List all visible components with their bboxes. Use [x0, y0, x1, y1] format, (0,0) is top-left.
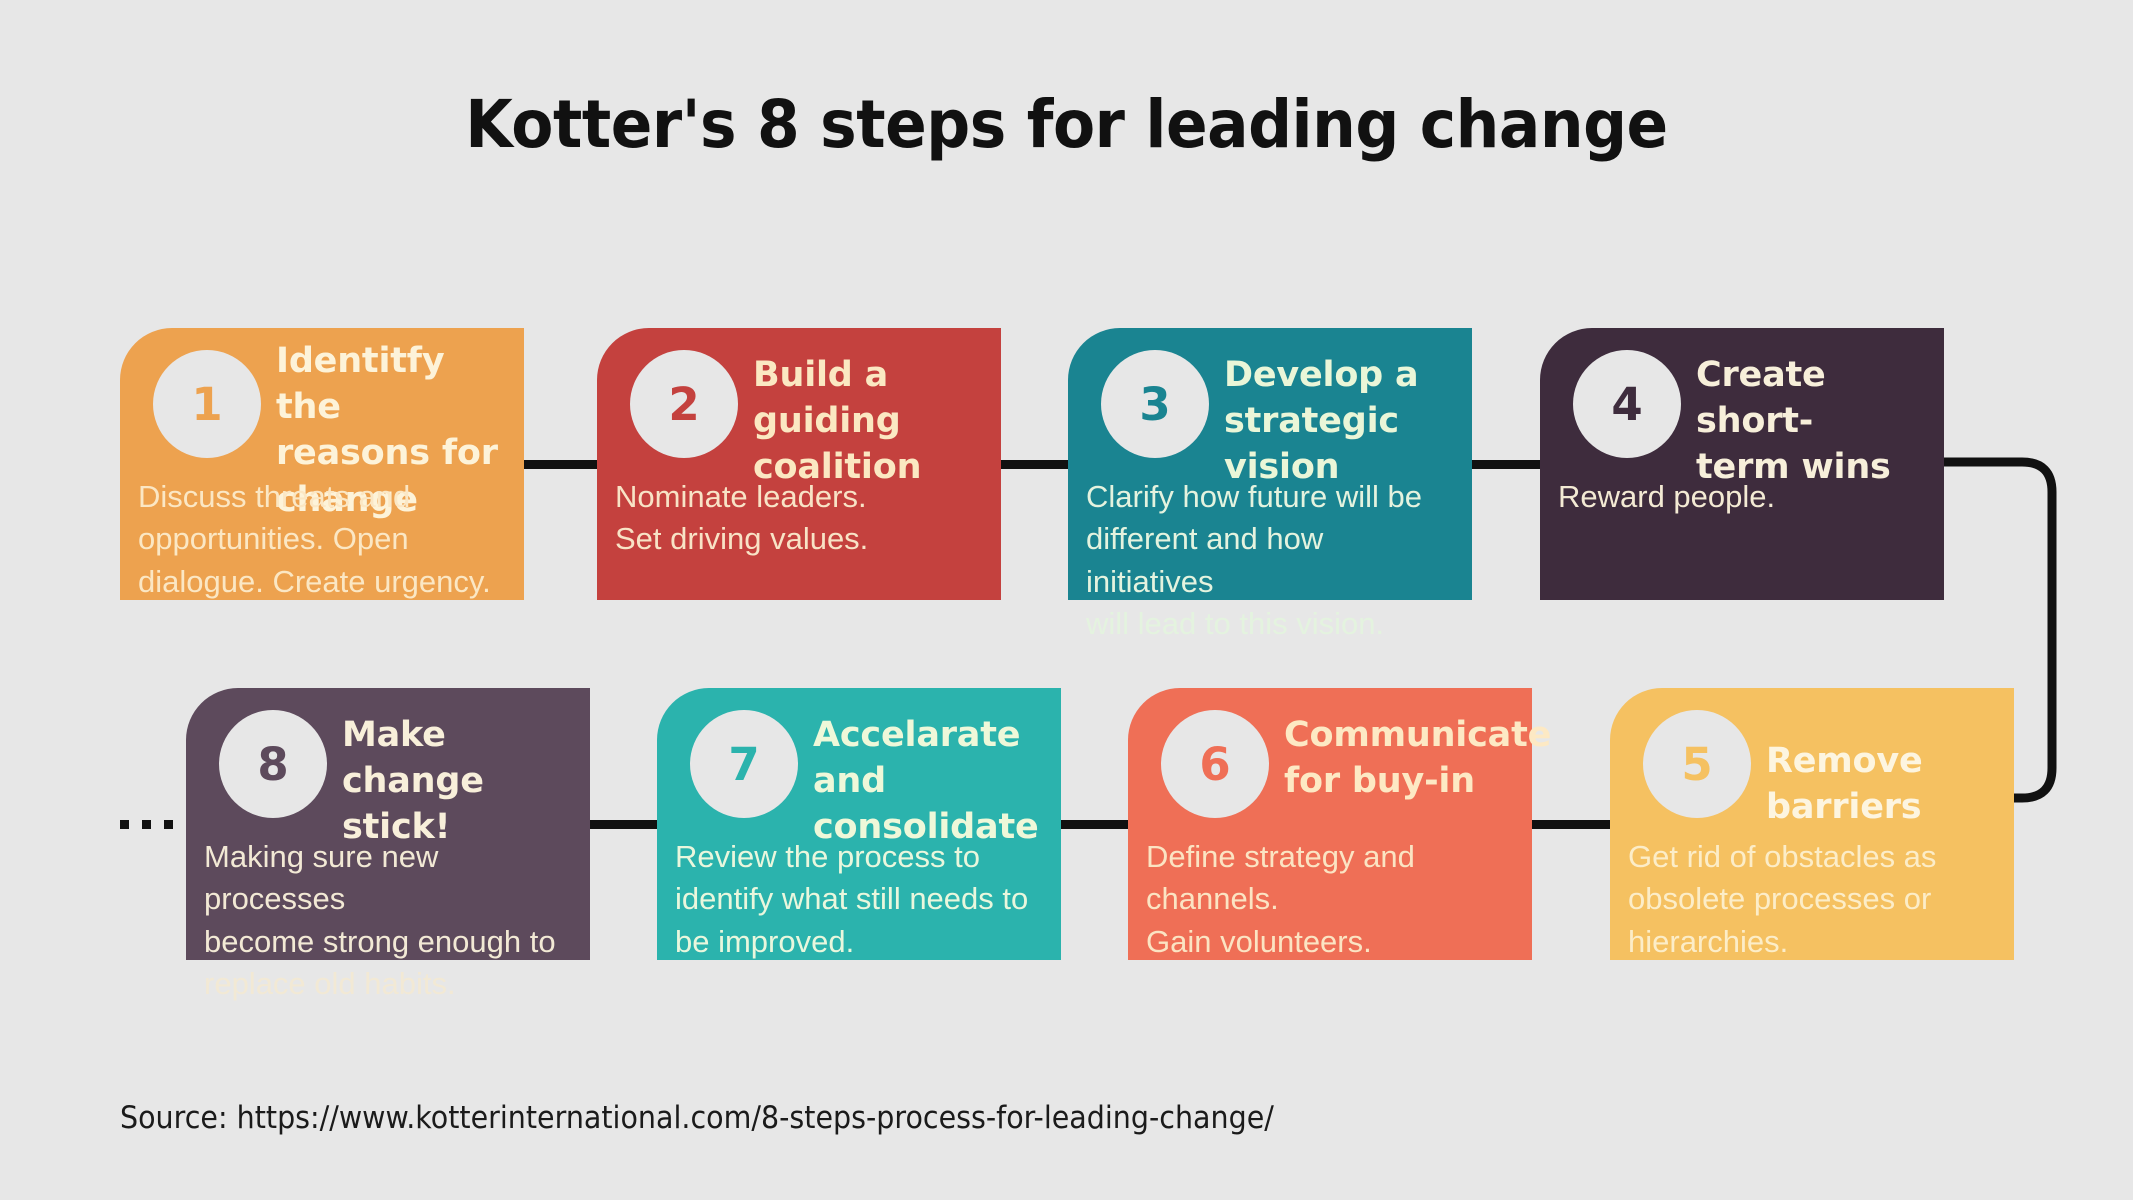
source-citation: Source: https://www.kotterinternational.…	[120, 1100, 1274, 1136]
step-body-6: Define strategy and channels. Gain volun…	[1146, 836, 1516, 963]
step-card-2[interactable]: 2 Build a guiding coalition Nominate lea…	[597, 328, 1001, 600]
step-number-5: 5	[1681, 742, 1712, 787]
step-number-8: 8	[257, 742, 288, 787]
step-body-5: Get rid of obstacles as obsolete process…	[1628, 836, 1998, 963]
step-badge-3: 3	[1101, 350, 1209, 458]
step-heading-8: Make change stick!	[342, 712, 572, 851]
step-badge-5: 5	[1643, 710, 1751, 818]
infographic-canvas: Kotter's 8 steps for leading change 1 Id…	[0, 0, 2133, 1200]
step-badge-1: 1	[153, 350, 261, 458]
connector-1-to-2	[521, 460, 603, 469]
step-card-5[interactable]: 5 Remove barriers Get rid of obstacles a…	[1610, 688, 2014, 960]
step-card-6[interactable]: 6 Communicate for buy-in Define strategy…	[1128, 688, 1532, 960]
step-heading-7: Accelarate and consolidate	[813, 712, 1043, 851]
step-body-7: Review the process to identify what stil…	[675, 836, 1045, 963]
step-number-7: 7	[728, 742, 759, 787]
step-body-1: Discuss threats and opportunities. Open …	[138, 476, 508, 603]
step-heading-2: Build a guiding coalition	[753, 352, 983, 491]
step-card-1[interactable]: 1 Identitfy the reasons for change Discu…	[120, 328, 524, 600]
step-card-7[interactable]: 7 Accelarate and consolidate Review the …	[657, 688, 1061, 960]
connector-3-to-4	[1463, 460, 1545, 469]
step-heading-3: Develop a strategic vision	[1224, 352, 1454, 491]
step-body-3: Clarify how future will be different and…	[1086, 476, 1456, 646]
step-number-1: 1	[191, 382, 222, 427]
step-body-2: Nominate leaders. Set driving values.	[615, 476, 985, 561]
step-number-4: 4	[1611, 382, 1642, 427]
step-badge-2: 2	[630, 350, 738, 458]
step-badge-4: 4	[1573, 350, 1681, 458]
step-card-3[interactable]: 3 Develop a strategic vision Clarify how…	[1068, 328, 1472, 600]
connector-2-to-3	[992, 460, 1074, 469]
step-badge-8: 8	[219, 710, 327, 818]
step-number-3: 3	[1139, 382, 1170, 427]
step-number-6: 6	[1199, 742, 1230, 787]
step-card-4[interactable]: 4 Create short- term wins Reward people.	[1540, 328, 1944, 600]
step-badge-6: 6	[1161, 710, 1269, 818]
step-badge-7: 7	[690, 710, 798, 818]
step-card-8[interactable]: 8 Make change stick! Making sure new pro…	[186, 688, 590, 960]
step-heading-5: Remove barriers	[1766, 738, 1996, 830]
step-heading-6: Communicate for buy-in	[1284, 712, 1514, 804]
step-body-8: Making sure new processes become strong …	[204, 836, 574, 1006]
connector-6-to-5	[1532, 820, 1614, 829]
step-heading-4: Create short- term wins	[1696, 352, 1926, 491]
step-number-2: 2	[668, 382, 699, 427]
step-body-4: Reward people.	[1558, 476, 1928, 518]
